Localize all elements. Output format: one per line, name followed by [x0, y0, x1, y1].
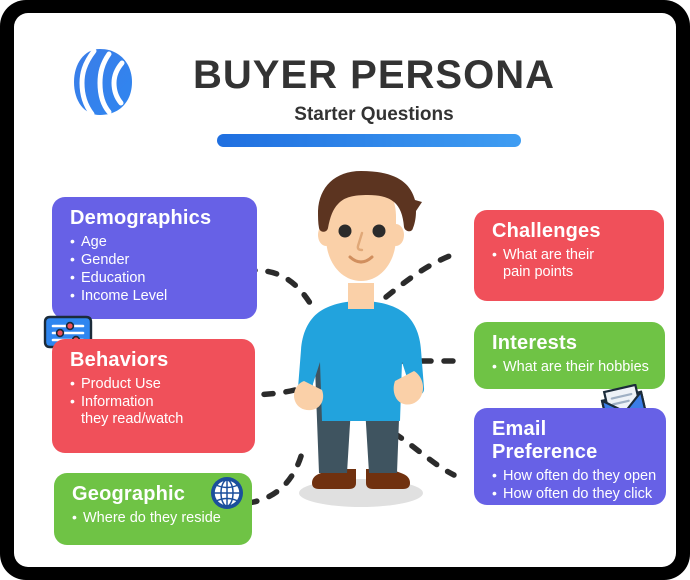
list-item-line: Information [81, 394, 241, 411]
list-item: Information they read/watch [70, 394, 241, 428]
connector-geographic [248, 453, 302, 503]
character-eye-right [373, 225, 386, 238]
card-items: How often do they open How often do they… [492, 468, 652, 503]
infographic-border: BUYER PERSONA Starter Questions [0, 0, 690, 580]
list-item: How often do they open [492, 468, 652, 485]
list-item-line: they read/watch [81, 411, 241, 428]
list-item: Income Level [70, 288, 243, 305]
list-item: Where do they reside [72, 510, 238, 527]
globe-icon [210, 476, 244, 510]
title-underline-bar [217, 134, 521, 147]
card-title: Interests [492, 332, 651, 355]
card-interests[interactable]: Interests What are their hobbies [474, 322, 665, 389]
connector-challenges [386, 255, 452, 297]
character-eye-left [339, 225, 352, 238]
card-items: Where do they reside [72, 510, 238, 527]
card-challenges[interactable]: Challenges What are their pain points [474, 210, 664, 301]
connector-email [394, 433, 454, 475]
page-subtitle: Starter Questions [164, 104, 584, 126]
concentric-arcs-logo-icon [64, 46, 136, 118]
character-illustration [294, 171, 424, 507]
list-item-line: What are their [503, 247, 650, 264]
list-item: How often do they click [492, 486, 652, 503]
list-item: Gender [70, 252, 243, 269]
card-items: Age Gender Education Income Level [70, 234, 243, 305]
list-item: What are their pain points [492, 247, 650, 281]
card-demographics[interactable]: Demographics Age Gender Education Income… [52, 197, 257, 319]
card-title: Geographic [72, 483, 185, 506]
card-items: Product Use Information they read/watch [70, 376, 241, 428]
list-item: What are their hobbies [492, 359, 651, 376]
list-item: Product Use [70, 376, 241, 393]
card-items: What are their pain points [492, 247, 650, 281]
page-title: BUYER PERSONA [164, 53, 584, 98]
card-title: Behaviors [70, 349, 241, 372]
list-item-line: pain points [503, 264, 650, 281]
card-email-preference[interactable]: Email Preference How often do they open … [474, 408, 666, 505]
card-title: Demographics [70, 207, 243, 230]
card-behaviors[interactable]: Behaviors Product Use Information they r… [52, 339, 255, 453]
infographic-card: BUYER PERSONA Starter Questions [14, 13, 676, 567]
card-title: Challenges [492, 220, 650, 243]
card-title: Email Preference [492, 418, 652, 464]
list-item: Age [70, 234, 243, 251]
list-item: Education [70, 270, 243, 287]
card-items: What are their hobbies [492, 359, 651, 376]
